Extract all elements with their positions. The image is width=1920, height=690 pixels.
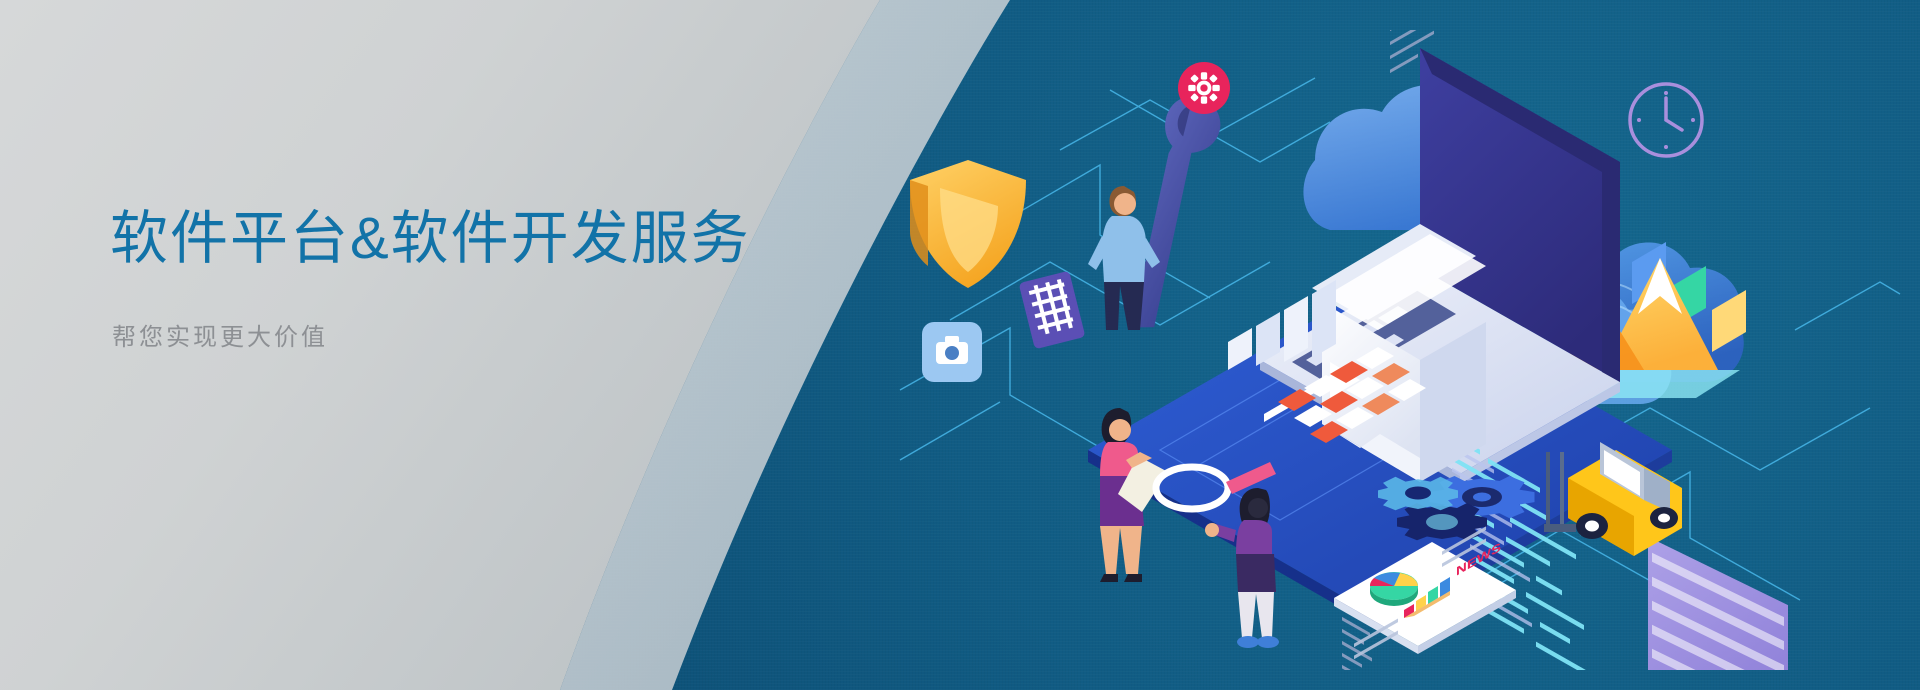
shield-icon — [910, 160, 1026, 288]
clock-icon — [1630, 84, 1702, 156]
page-title: 软件平台&软件开发服务 — [110, 206, 751, 273]
page-subtitle: 帮您实现更大价值 — [112, 317, 751, 352]
banner-copy: 软件平台&软件开发服务 帮您实现更大价值 — [110, 206, 751, 352]
pie-chart — [1370, 572, 1418, 606]
hero-illustration: NEWS — [860, 30, 1920, 670]
gear-badge-icon — [1178, 62, 1230, 114]
calendar-icon — [1019, 271, 1086, 350]
banner-root: 软件平台&软件开发服务 帮您实现更大价值 — [0, 0, 1920, 690]
camera-icon — [922, 322, 982, 382]
